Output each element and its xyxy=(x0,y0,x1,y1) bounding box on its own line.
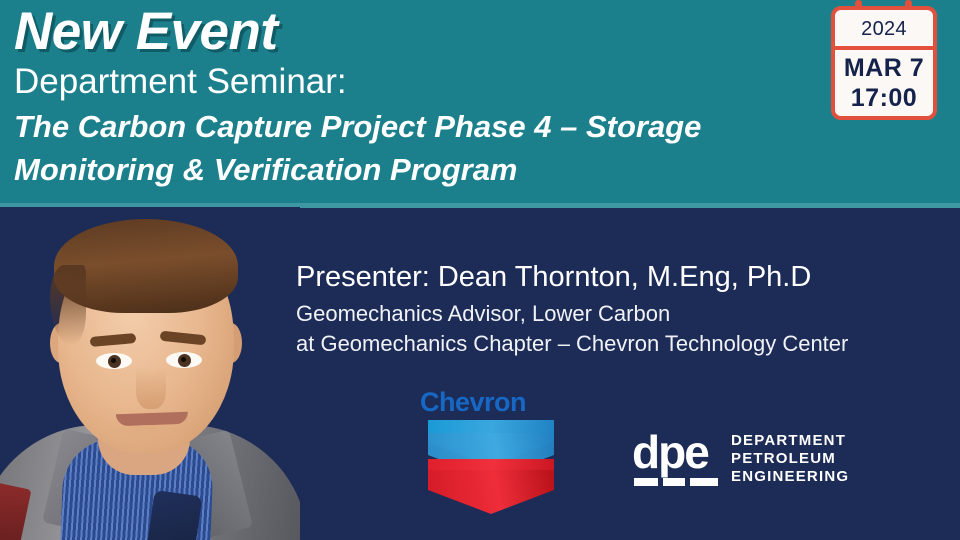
presenter-role: Geomechanics Advisor, Lower Carbon xyxy=(296,299,946,329)
poster-header: New Event Department Seminar: The Carbon… xyxy=(0,0,960,207)
dpe-word-line-1: DEPARTMENT xyxy=(731,432,866,450)
presenter-details: Presenter: Dean Thornton, M.Eng, Ph.D Ge… xyxy=(296,258,946,359)
photo-tie xyxy=(146,490,203,540)
dpe-logo: dpe DEPARTMENT PETROLEUM ENGINEERING xyxy=(632,429,862,491)
presenter-name: Presenter: Dean Thornton, M.Eng, Ph.D xyxy=(296,258,946,296)
dpe-monogram-icon: dpe xyxy=(632,429,722,491)
event-type-label: Department Seminar: xyxy=(14,60,814,104)
calendar-body: MAR 7 17:00 xyxy=(835,50,933,116)
calendar-card: 2024 MAR 7 17:00 xyxy=(831,6,937,120)
dpe-wordmark: DEPARTMENT PETROLEUM ENGINEERING xyxy=(731,432,866,486)
title-block: New Event Department Seminar: The Carbon… xyxy=(14,2,814,191)
chevron-logo: Chevron xyxy=(414,387,564,505)
dpe-word-line-3: ENGINEERING xyxy=(731,468,866,486)
calendar-date: MAR 7 xyxy=(844,54,924,83)
calendar-date-badge: 2024 MAR 7 17:00 xyxy=(831,6,937,120)
presenter-affiliation: at Geomechanics Chapter – Chevron Techno… xyxy=(296,329,946,359)
presenter-photo xyxy=(0,207,300,540)
event-title-line-2: Monitoring & Verification Program xyxy=(14,148,814,191)
photo-eye-right xyxy=(166,352,202,368)
photo-chin xyxy=(104,425,194,455)
photo-eye-left xyxy=(96,353,132,369)
photo-iris-left xyxy=(108,355,121,368)
dpe-underline-gap-2 xyxy=(685,478,690,486)
event-announcement-poster: New Event Department Seminar: The Carbon… xyxy=(0,0,960,540)
dpe-word-line-2: PETROLEUM xyxy=(731,450,866,468)
dpe-underline-gap-1 xyxy=(658,478,663,486)
calendar-time: 17:00 xyxy=(851,83,917,113)
photo-nose xyxy=(136,367,166,409)
calendar-year: 2024 xyxy=(835,13,933,45)
photo-iris-right xyxy=(178,354,191,367)
dpe-underline-bar xyxy=(634,478,718,486)
new-event-badge: New Event xyxy=(14,2,814,62)
event-title-line-1: The Carbon Capture Project Phase 4 – Sto… xyxy=(14,105,814,148)
chevron-hallmark-icon xyxy=(428,420,554,505)
chevron-wordmark: Chevron xyxy=(420,387,566,418)
dpe-letters: dpe xyxy=(632,429,722,475)
chevron-red-lower xyxy=(428,470,554,516)
